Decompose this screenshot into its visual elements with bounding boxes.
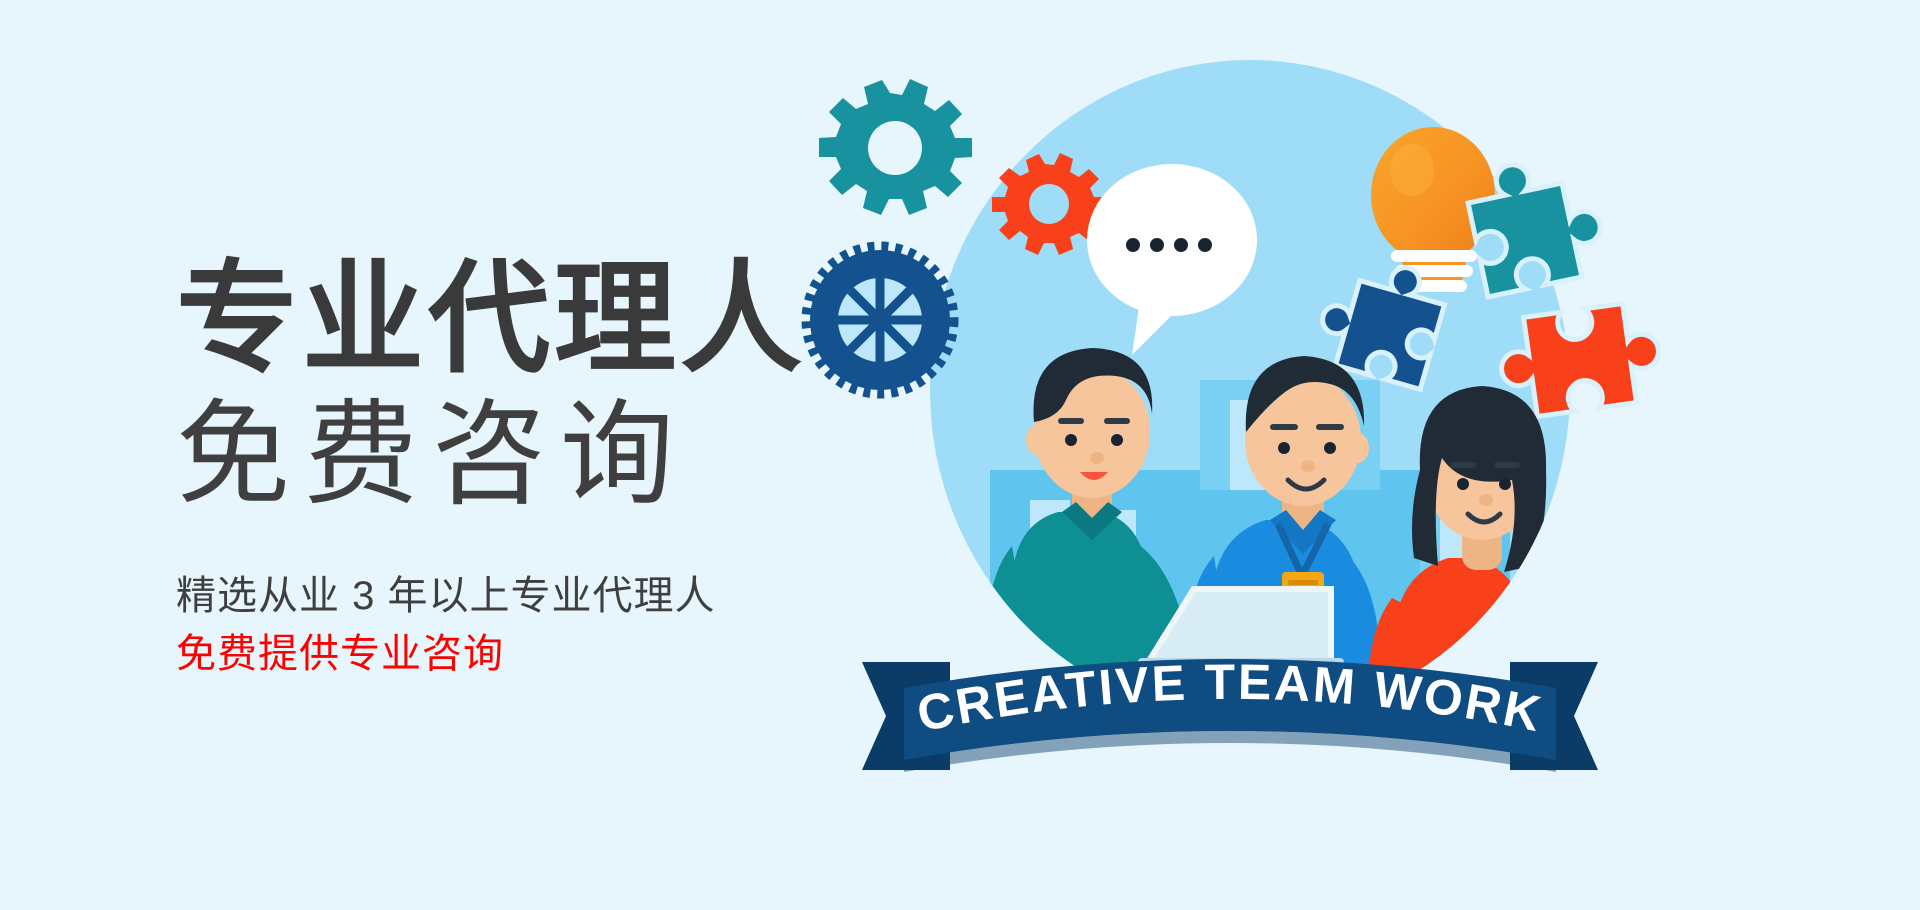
gear-navy-icon <box>806 246 954 394</box>
ribbon-banner: CREATIVE TEAM WORK <box>862 654 1598 772</box>
teamwork-illustration: CREATIVE TEAM WORK <box>800 0 1660 910</box>
banner-subtitle: 精选从业 3 年以上专业代理人 <box>176 567 876 625</box>
banner-highlight-text: 免费提供专业咨询 <box>176 625 876 683</box>
banner-text-block: 专业代理人 免费咨询 精选从业 3 年以上专业代理人 免费提供专业咨询 <box>176 258 876 683</box>
headline-secondary: 免费咨询 <box>176 386 876 525</box>
gear-teal-icon <box>819 79 972 215</box>
headline-primary: 专业代理人 <box>176 258 876 380</box>
promo-banner: 专业代理人 免费咨询 精选从业 3 年以上专业代理人 免费提供专业咨询 <box>0 0 1920 910</box>
